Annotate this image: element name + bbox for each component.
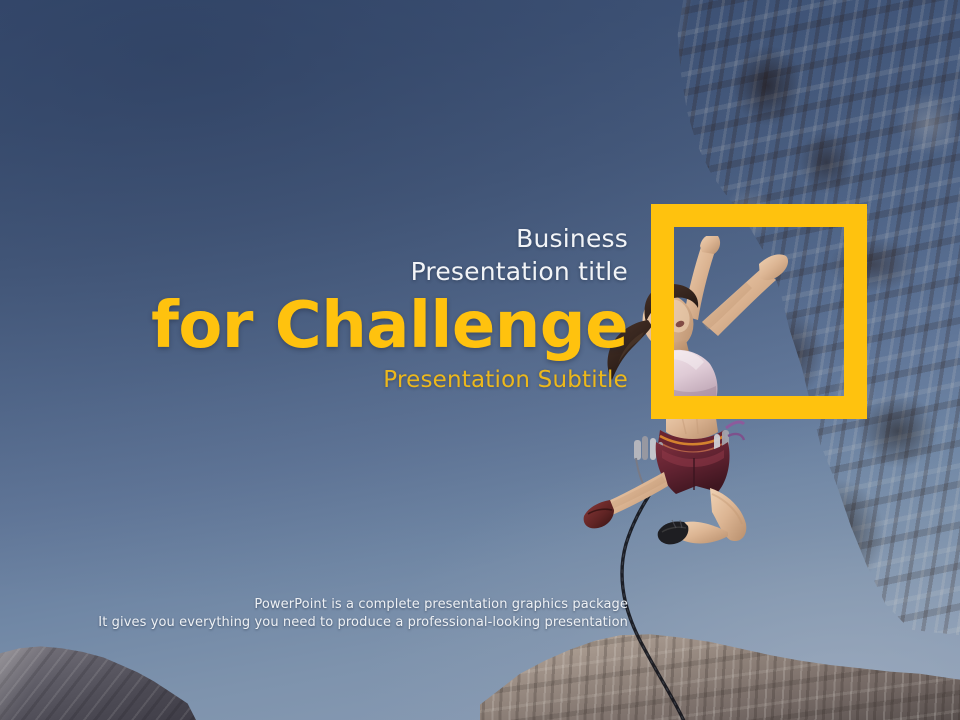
footer-description: PowerPoint is a complete presentation gr…	[60, 596, 628, 632]
yellow-square-frame	[651, 204, 867, 419]
subtitle-text: Presentation Subtitle	[60, 365, 628, 395]
page-title: for Challenge	[60, 290, 628, 362]
left-mountain-peak	[0, 628, 196, 720]
left-mountain-texture	[0, 628, 196, 720]
presentation-slide: Business Presentation title for Challeng…	[0, 0, 960, 720]
title-text-block: Business Presentation title for Challeng…	[60, 222, 628, 395]
footer-line-1: PowerPoint is a complete presentation gr…	[60, 596, 628, 614]
footer-line-2: It gives you everything you need to prod…	[60, 614, 628, 632]
eyebrow-text: Business Presentation title	[60, 222, 628, 288]
